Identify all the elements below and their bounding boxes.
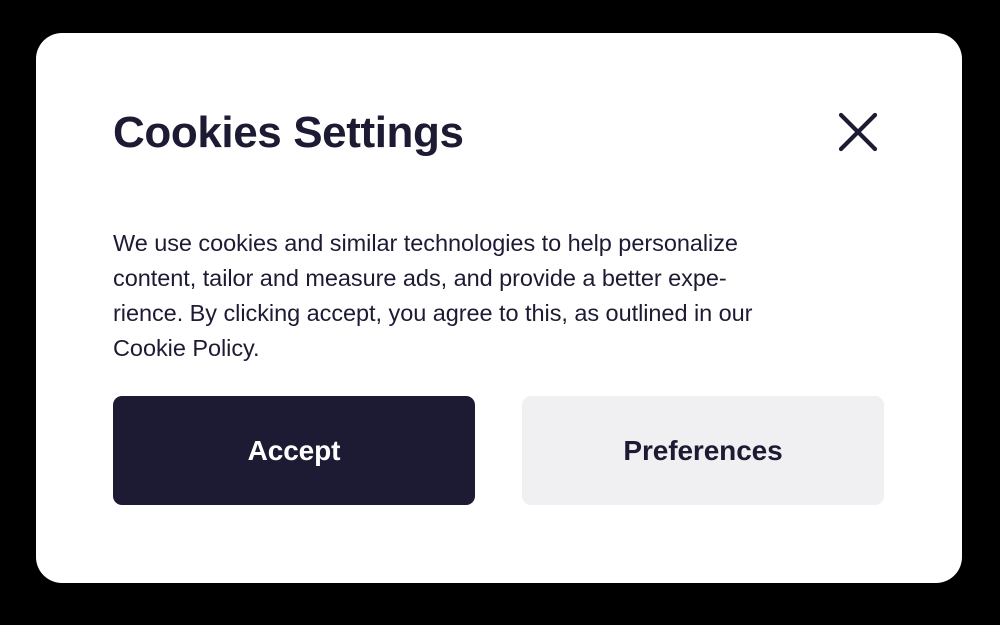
accept-button[interactable]: Accept	[113, 396, 475, 505]
consent-description: We use cookies and similar technologies …	[113, 226, 903, 366]
dialog-actions: Accept Preferences	[113, 396, 884, 505]
dialog-header: Cookies Settings	[36, 33, 962, 183]
dialog-body: We use cookies and similar technologies …	[113, 226, 903, 366]
cookie-consent-dialog: Cookies Settings We use cookies and simi…	[36, 33, 962, 583]
close-button[interactable]	[829, 103, 887, 161]
screen-background: Cookies Settings We use cookies and simi…	[0, 0, 1000, 625]
page-title: Cookies Settings	[113, 107, 464, 159]
close-x-icon	[838, 112, 878, 152]
preferences-button[interactable]: Preferences	[522, 396, 884, 505]
